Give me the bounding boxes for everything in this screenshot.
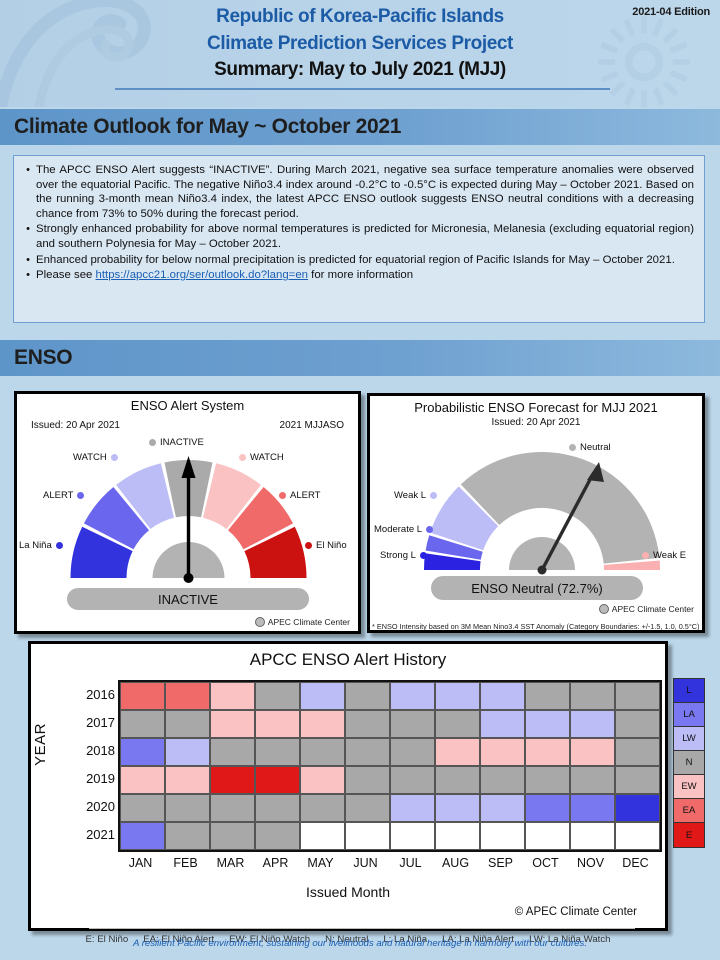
- alert-gauge-issued: Issued: 20 Apr 2021: [31, 420, 120, 431]
- prob-label-text: Weak E: [653, 550, 686, 561]
- heatmap-month-label: DEC: [613, 856, 658, 870]
- heatmap-cell: [390, 794, 435, 822]
- prob-label-strong-l: Strong L: [380, 550, 427, 561]
- swatch-icon: [642, 552, 649, 559]
- heatmap-cell: [210, 682, 255, 710]
- swatch-icon: [239, 454, 246, 461]
- heatmap-year-label: 2018: [63, 736, 115, 764]
- alert-label-text: El Niño: [316, 540, 347, 551]
- bullet-link-suffix: for more information: [308, 269, 413, 281]
- alert-label-alert-left: ALERT: [43, 490, 84, 501]
- heatmap-cell: [120, 822, 165, 850]
- credit-text: APEC Climate Center: [268, 617, 350, 627]
- prob-gauge-issued: Issued: 20 Apr 2021: [370, 417, 702, 428]
- heatmap-cell: [120, 738, 165, 766]
- bullet-link-prefix: Please see: [36, 269, 96, 281]
- heatmap-cell: [570, 710, 615, 738]
- heatmap-cell: [435, 766, 480, 794]
- copyright-icon: [599, 604, 609, 614]
- heatmap-cell: [345, 794, 390, 822]
- alert-status-badge: INACTIVE: [67, 588, 309, 610]
- heatmap-month-label: JAN: [118, 856, 163, 870]
- heatmap-cell: [210, 738, 255, 766]
- heatmap-cell: [435, 822, 480, 850]
- alert-label-alert-right: ALERT: [279, 490, 320, 501]
- legend-swatch-l: L: [674, 679, 704, 703]
- alert-label-text: WATCH: [73, 452, 107, 463]
- heatmap-cell: [615, 766, 660, 794]
- heatmap-month-label: MAY: [298, 856, 343, 870]
- heatmap-cell: [300, 766, 345, 794]
- heatmap-cell: [165, 794, 210, 822]
- alert-credit: APEC Climate Center: [255, 617, 350, 627]
- heatmap-month-label: NOV: [568, 856, 613, 870]
- legend-swatch-lw: LW: [674, 727, 704, 751]
- heatmap-cell: [165, 682, 210, 710]
- heatmap-cell: [390, 822, 435, 850]
- alert-gauge-period: 2021 MJJASO: [280, 420, 344, 431]
- heatmap-cell: [480, 682, 525, 710]
- enso-alert-system-panel: ENSO Alert System Issued: 20 Apr 2021 20…: [14, 391, 361, 634]
- bullet-text: Strongly enhanced probability for above …: [36, 222, 694, 251]
- heatmap-year-label: 2017: [63, 708, 115, 736]
- heatmap-month-label: OCT: [523, 856, 568, 870]
- heatmap-cell: [255, 766, 300, 794]
- legend-swatch-n: N: [674, 751, 704, 775]
- prob-gauge-chart: [412, 438, 672, 578]
- heatmap-cell: [345, 710, 390, 738]
- bullet-icon: •: [20, 253, 36, 268]
- swatch-icon: [77, 492, 84, 499]
- heatmap-cell: [615, 682, 660, 710]
- header-subtitle: Summary: May to July 2021 (MJJ): [0, 59, 720, 81]
- probabilistic-enso-forecast-panel: Probabilistic ENSO Forecast for MJJ 2021…: [367, 393, 705, 633]
- outlook-bullet-box: • The APCC ENSO Alert suggests “INACTIVE…: [13, 155, 705, 323]
- alert-label-text: INACTIVE: [160, 437, 204, 448]
- heatmap-cell: [165, 822, 210, 850]
- heatmap-cell: [345, 738, 390, 766]
- alert-label-inactive: INACTIVE: [149, 437, 204, 448]
- section-title-outlook: Climate Outlook for May ~ October 2021: [14, 115, 401, 139]
- heatmap-cell: [570, 766, 615, 794]
- history-y-axis-label: YEAR: [32, 723, 49, 766]
- heatmap-cell: [210, 766, 255, 794]
- heatmap-cell: [300, 822, 345, 850]
- copyright-icon: [255, 617, 265, 627]
- alert-label-la-nina: La Niña: [19, 540, 63, 551]
- section-title-enso: ENSO: [14, 346, 72, 370]
- header-title-line1: Republic of Korea-Pacific Islands: [0, 6, 720, 28]
- section-header-enso: ENSO: [0, 340, 720, 376]
- heatmap-cell: [120, 710, 165, 738]
- prob-label-text: Weak L: [394, 490, 426, 501]
- prob-gauge-title: Probabilistic ENSO Forecast for MJJ 2021: [370, 400, 702, 415]
- bullet-icon: •: [20, 268, 36, 283]
- history-legend: LLALWNEWEAE: [673, 678, 705, 848]
- swatch-icon: [569, 444, 576, 451]
- heatmap-cell: [525, 766, 570, 794]
- heatmap-cell: [255, 822, 300, 850]
- heatmap-cell: [615, 822, 660, 850]
- heatmap-cell: [390, 766, 435, 794]
- prob-footnote: * ENSO Intensity based on 3M Mean Nino3.…: [372, 622, 706, 631]
- heatmap-cell: [435, 794, 480, 822]
- heatmap-cell: [525, 710, 570, 738]
- heatmap-year-label: 2021: [63, 820, 115, 848]
- swatch-icon: [420, 552, 427, 559]
- heatmap-month-label: APR: [253, 856, 298, 870]
- alert-label-el-nino: El Niño: [305, 540, 347, 551]
- history-footer-divider: [89, 928, 635, 929]
- heatmap-cell: [300, 682, 345, 710]
- heatmap-cell: [345, 822, 390, 850]
- heatmap-year-label: 2016: [63, 680, 115, 708]
- swatch-icon: [426, 526, 433, 533]
- heatmap-cell: [345, 682, 390, 710]
- heatmap-month-label: FEB: [163, 856, 208, 870]
- swatch-icon: [430, 492, 437, 499]
- prob-label-weak-e: Weak E: [642, 550, 686, 561]
- heatmap-cell: [480, 822, 525, 850]
- prob-label-text: Moderate L: [374, 524, 422, 535]
- alert-label-watch-left: WATCH: [73, 452, 118, 463]
- heatmap-cell: [480, 766, 525, 794]
- heatmap-cell: [525, 794, 570, 822]
- prob-status-badge: ENSO Neutral (72.7%): [431, 576, 643, 600]
- history-heatmap-grid: [118, 680, 662, 852]
- heatmap-cell: [570, 682, 615, 710]
- history-title: APCC ENSO Alert History: [31, 650, 665, 670]
- bullet-icon: •: [20, 222, 36, 251]
- heatmap-cell: [300, 710, 345, 738]
- legend-swatch-ea: EA: [674, 799, 704, 823]
- heatmap-month-label: JUL: [388, 856, 433, 870]
- heatmap-cell: [210, 822, 255, 850]
- heatmap-month-label: JUN: [343, 856, 388, 870]
- legend-swatch-e: E: [674, 823, 704, 847]
- list-item: • The APCC ENSO Alert suggests “INACTIVE…: [20, 163, 694, 221]
- alert-label-text: WATCH: [250, 452, 284, 463]
- heatmap-month-label: AUG: [433, 856, 478, 870]
- heatmap-cell: [255, 682, 300, 710]
- bullet-text-link-row: Please see https://apcc21.org/ser/outloo…: [36, 268, 694, 283]
- prob-label-moderate-l: Moderate L: [374, 524, 433, 535]
- prob-label-neutral: Neutral: [569, 442, 611, 453]
- heatmap-cell: [615, 794, 660, 822]
- header-divider: [115, 88, 610, 90]
- heatmap-cell: [210, 794, 255, 822]
- heatmap-cell: [210, 710, 255, 738]
- heatmap-month-label: MAR: [208, 856, 253, 870]
- heatmap-month-label: SEP: [478, 856, 523, 870]
- heatmap-cell: [390, 682, 435, 710]
- history-x-axis-label: Issued Month: [31, 884, 665, 900]
- heatmap-cell: [480, 710, 525, 738]
- section-header-outlook: Climate Outlook for May ~ October 2021: [0, 109, 720, 145]
- heatmap-cell: [300, 738, 345, 766]
- heatmap-cell: [525, 822, 570, 850]
- outlook-url-link[interactable]: https://apcc21.org/ser/outlook.do?lang=e…: [96, 269, 308, 281]
- heatmap-cell: [615, 710, 660, 738]
- alert-label-watch-right: WATCH: [239, 452, 284, 463]
- heatmap-cell: [255, 710, 300, 738]
- heatmap-cell: [570, 794, 615, 822]
- swatch-icon: [56, 542, 63, 549]
- heatmap-cell: [570, 738, 615, 766]
- heatmap-cell: [435, 710, 480, 738]
- heatmap-year-label: 2020: [63, 792, 115, 820]
- heatmap-cell: [390, 710, 435, 738]
- list-item: • Please see https://apcc21.org/ser/outl…: [20, 268, 694, 283]
- heatmap-cell: [525, 738, 570, 766]
- heatmap-cell: [255, 738, 300, 766]
- alert-label-text: La Niña: [19, 540, 52, 551]
- heatmap-cell: [165, 710, 210, 738]
- heatmap-cell: [615, 738, 660, 766]
- heatmap-cell: [525, 682, 570, 710]
- bullet-text: The APCC ENSO Alert suggests “INACTIVE”.…: [36, 163, 694, 221]
- history-credit: © APEC Climate Center: [515, 906, 637, 918]
- header-title-line2: Climate Prediction Services Project: [0, 33, 720, 55]
- heatmap-cell: [435, 682, 480, 710]
- bullet-icon: •: [20, 163, 36, 221]
- heatmap-cell: [120, 766, 165, 794]
- alert-label-text: ALERT: [43, 490, 73, 501]
- page-tagline: A resilient Pacific environment, sustain…: [0, 938, 720, 949]
- prob-credit: APEC Climate Center: [599, 604, 694, 614]
- heatmap-cell: [480, 738, 525, 766]
- heatmap-cell: [435, 738, 480, 766]
- heatmap-cell: [480, 794, 525, 822]
- alert-label-text: ALERT: [290, 490, 320, 501]
- list-item: • Strongly enhanced probability for abov…: [20, 222, 694, 251]
- heatmap-cell: [345, 766, 390, 794]
- heatmap-cell: [165, 738, 210, 766]
- prob-label-weak-l: Weak L: [394, 490, 437, 501]
- list-item: • Enhanced probability for below normal …: [20, 253, 694, 268]
- swatch-icon: [149, 439, 156, 446]
- swatch-icon: [111, 454, 118, 461]
- enso-alert-history-panel: APCC ENSO Alert History YEAR 20162017201…: [28, 641, 668, 931]
- heatmap-cell: [300, 794, 345, 822]
- prob-label-text: Neutral: [580, 442, 611, 453]
- page-header: 2021-04 Edition Republic of Korea-Pacifi…: [0, 0, 720, 107]
- bullet-text: Enhanced probability for below normal pr…: [36, 253, 694, 268]
- legend-swatch-la: LA: [674, 703, 704, 727]
- heatmap-cell: [390, 738, 435, 766]
- heatmap-year-label: 2019: [63, 764, 115, 792]
- alert-gauge-title: ENSO Alert System: [17, 398, 358, 413]
- heatmap-cell: [120, 682, 165, 710]
- swatch-icon: [279, 492, 286, 499]
- heatmap-cell: [255, 794, 300, 822]
- legend-swatch-ew: EW: [674, 775, 704, 799]
- swatch-icon: [305, 542, 312, 549]
- heatmap-cell: [165, 766, 210, 794]
- prob-label-text: Strong L: [380, 550, 416, 561]
- credit-text: APEC Climate Center: [612, 604, 694, 614]
- heatmap-cell: [120, 794, 165, 822]
- heatmap-cell: [570, 822, 615, 850]
